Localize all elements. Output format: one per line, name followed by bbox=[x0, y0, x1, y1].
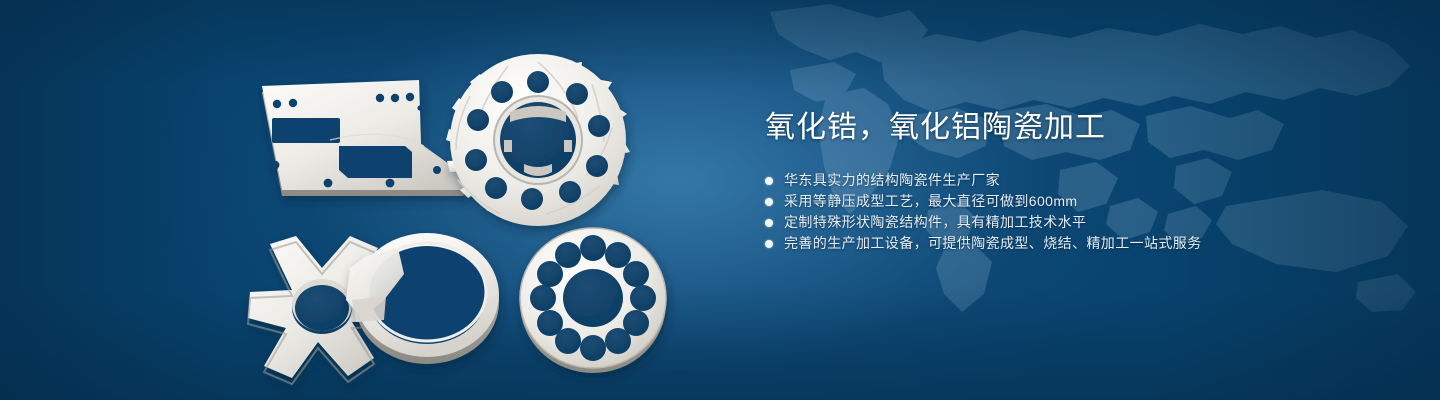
banner-text-block: 氧化锆，氧化铝陶瓷加工 华东具实力的结构陶瓷件生产厂家 采用等静压成型工艺，最大… bbox=[765, 108, 1385, 254]
feature-text: 定制特殊形状陶瓷结构件，具有精加工技术水平 bbox=[784, 212, 1086, 233]
feature-text: 华东具实力的结构陶瓷件生产厂家 bbox=[784, 170, 1000, 191]
ceramic-impeller-rotor bbox=[446, 54, 630, 226]
feature-text: 采用等静压成型工艺，最大直径可做到600mm bbox=[784, 191, 1077, 212]
bullet-dot-icon bbox=[765, 177, 773, 185]
hero-banner: 氧化锆，氧化铝陶瓷加工 华东具实力的结构陶瓷件生产厂家 采用等静压成型工艺，最大… bbox=[0, 0, 1440, 400]
feature-list: 华东具实力的结构陶瓷件生产厂家 采用等静压成型工艺，最大直径可做到600mm 定… bbox=[765, 170, 1385, 254]
ceramic-mounting-plate bbox=[262, 80, 470, 196]
bullet-dot-icon bbox=[765, 240, 773, 248]
page-title: 氧化锆，氧化铝陶瓷加工 bbox=[765, 108, 1385, 148]
list-item: 定制特殊形状陶瓷结构件，具有精加工技术水平 bbox=[765, 212, 1385, 233]
ceramic-perforated-disc bbox=[520, 228, 666, 373]
feature-text: 完善的生产加工设备，可提供陶瓷成型、烧结、精加工一站式服务 bbox=[784, 233, 1202, 254]
bullet-dot-icon bbox=[765, 219, 773, 227]
list-item: 完善的生产加工设备，可提供陶瓷成型、烧结、精加工一站式服务 bbox=[765, 233, 1385, 254]
ceramic-products-photo bbox=[0, 0, 720, 400]
list-item: 华东具实力的结构陶瓷件生产厂家 bbox=[765, 170, 1385, 191]
list-item: 采用等静压成型工艺，最大直径可做到600mm bbox=[765, 191, 1385, 212]
bullet-dot-icon bbox=[765, 198, 773, 206]
